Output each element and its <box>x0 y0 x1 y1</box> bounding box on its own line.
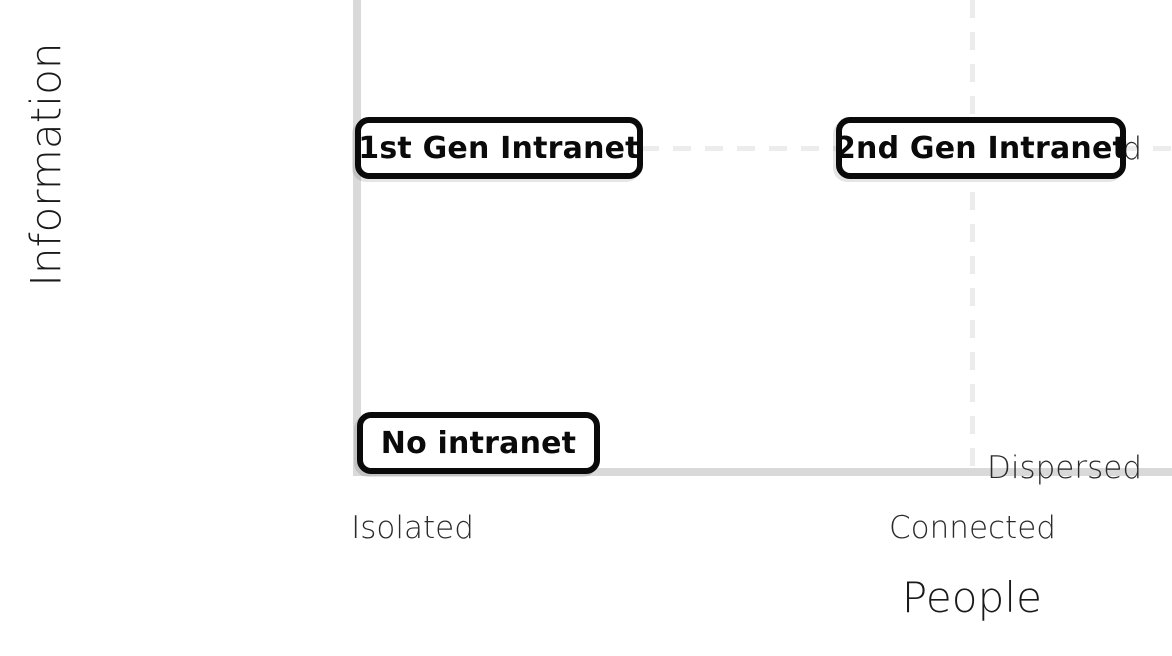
x-tick-label-connected: Connected <box>835 510 1110 546</box>
x-axis-title: People <box>822 573 1122 622</box>
data-point-no-intranet[interactable]: No intranet <box>357 412 600 474</box>
y-axis-title: Information <box>22 35 71 295</box>
data-point-second-gen-intranet[interactable]: 2nd Gen Intranet <box>836 117 1126 179</box>
y-axis-line <box>353 0 361 476</box>
chart-canvas: Information People Consolidated Disperse… <box>0 0 1172 656</box>
vertical-gridline-connected <box>970 0 975 470</box>
y-tick-label-dispersed: Dispersed <box>832 450 1172 486</box>
data-point-first-gen-intranet[interactable]: 1st Gen Intranet <box>355 117 643 179</box>
x-tick-label-isolated: Isolated <box>275 510 550 546</box>
